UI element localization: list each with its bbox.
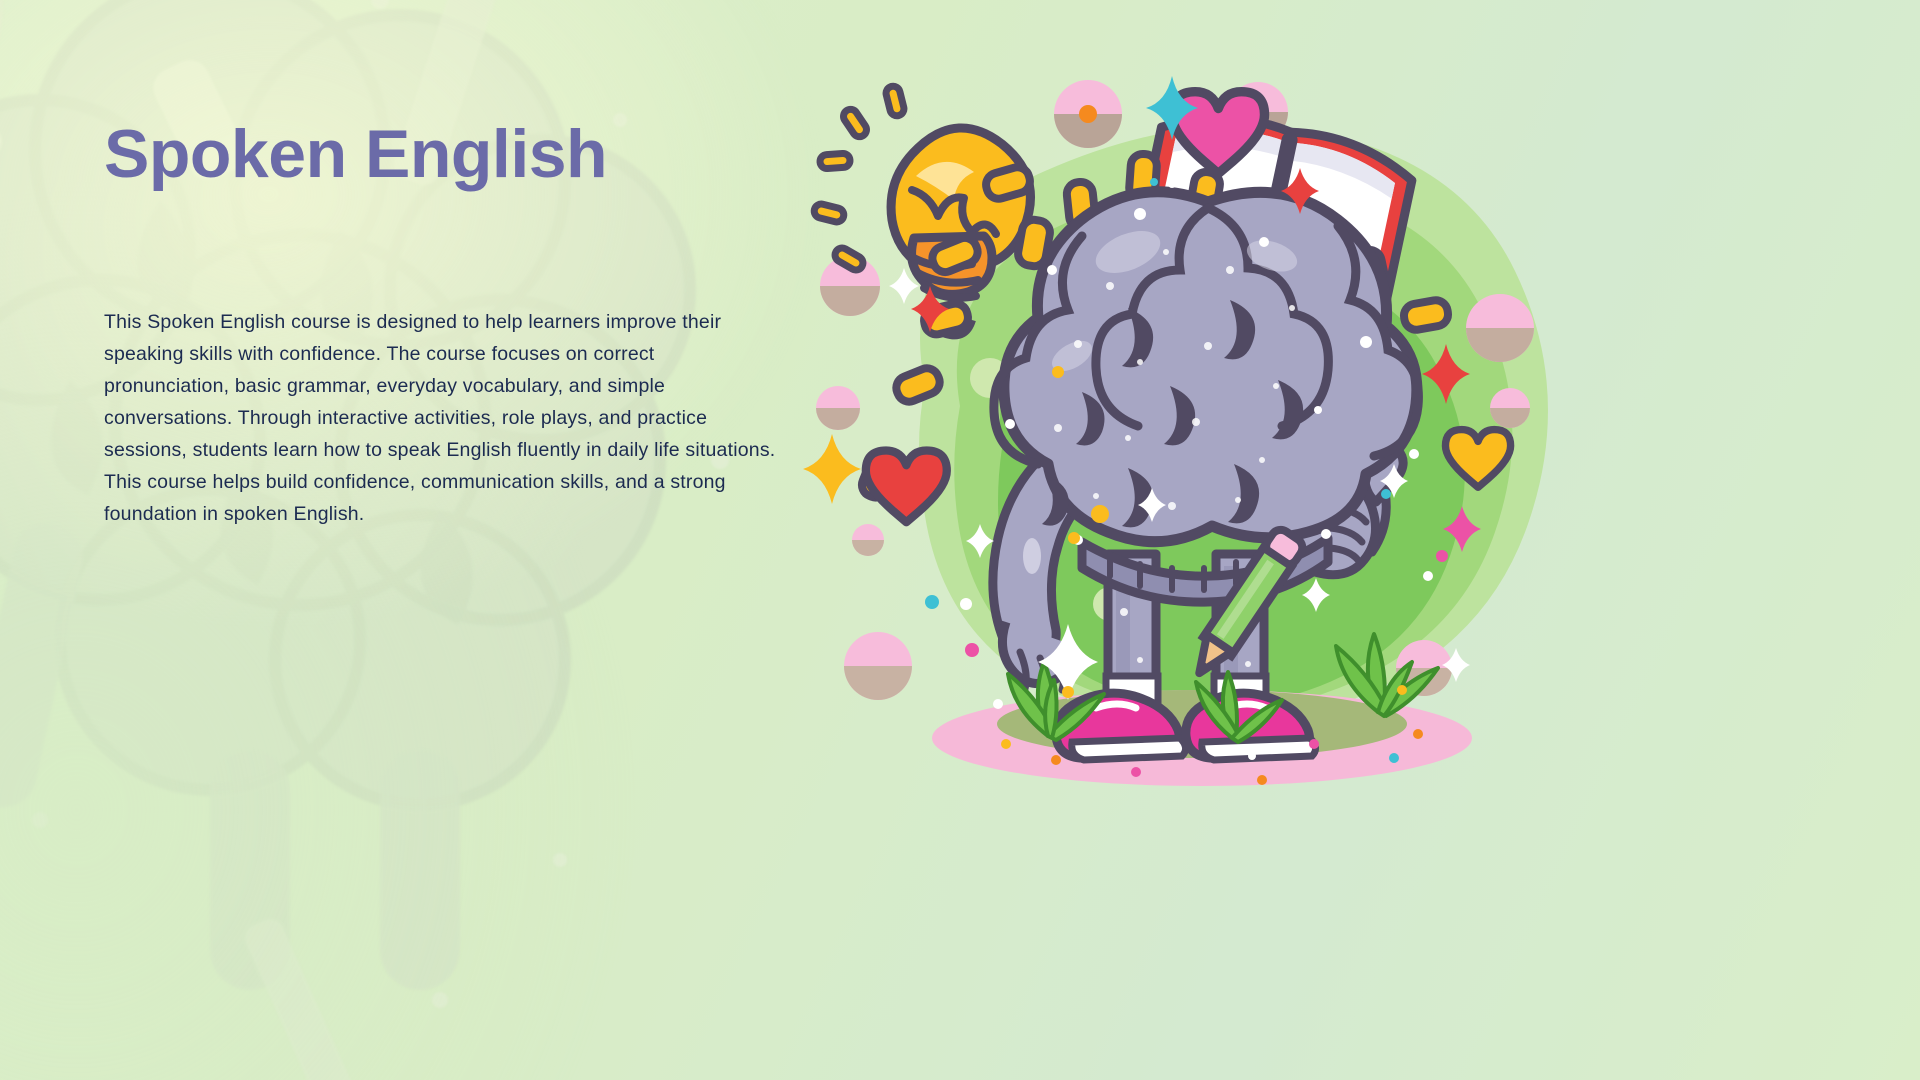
course-hero-page: Spoken English This Spoken English cours… <box>0 0 1920 1080</box>
course-description: This Spoken English course is designed t… <box>104 306 776 530</box>
hero-text-column: Spoken English This Spoken English cours… <box>104 118 804 530</box>
brain-character-illustration <box>810 56 1570 816</box>
page-title: Spoken English <box>104 118 804 190</box>
